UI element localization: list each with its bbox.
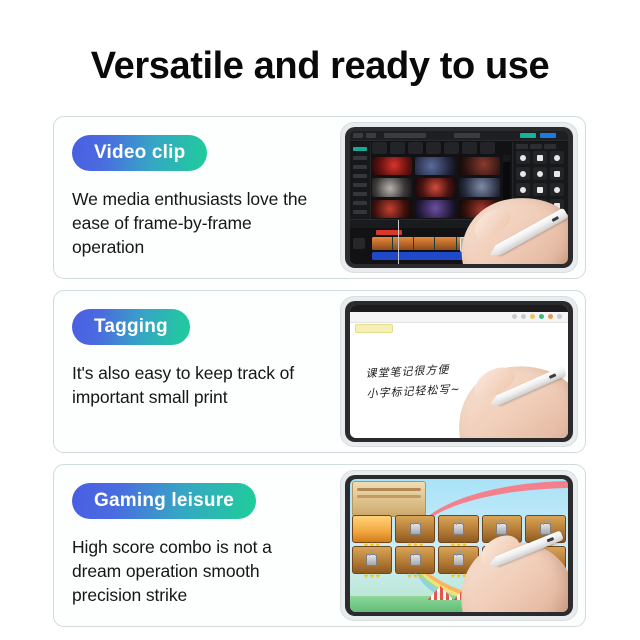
card-image-gaming: ★★★ ★★★ ★★★ [339,465,585,626]
lock-icon [410,554,421,566]
effect-icon[interactable] [550,183,564,196]
level-tile-unlocked[interactable]: ★★★ [352,515,392,543]
tablet-bezel-game: ★★★ ★★★ ★★★ [345,475,573,616]
sidebar-item[interactable] [353,147,367,151]
editor-toolbar [372,142,506,154]
sidebar-item[interactable] [353,210,367,214]
lock-icon [410,523,421,535]
editor-tool-button[interactable] [462,142,477,154]
level-stars: ★★★ [396,573,434,580]
effect-icon[interactable] [550,151,564,164]
effect-icon[interactable] [533,167,547,180]
effect-icon[interactable] [516,183,530,196]
editor-tool-button[interactable] [444,142,459,154]
stylus-button-icon [546,537,554,542]
pen-tool-icon[interactable] [521,314,526,319]
effects-tab[interactable] [530,144,542,149]
level-stars: ★★★ [353,573,391,580]
level-tile-locked[interactable]: ★★★ [395,546,435,574]
lock-icon [366,554,377,566]
editor-tool-button[interactable] [390,142,405,154]
editor-share-chip [540,133,556,138]
orange-pen-icon[interactable] [548,314,553,319]
sidebar-item[interactable] [353,174,367,178]
status-bar [350,305,568,312]
tablet-screen-game: ★★★ ★★★ ★★★ [350,479,568,612]
stylus-button-icon [548,373,556,379]
media-thumbnail[interactable] [459,178,500,196]
card-tag-gaming-leisure[interactable]: Gaming leisure [72,483,256,519]
effect-icon[interactable] [516,167,530,180]
tablet-bezel-notes: 课堂笔记很方便 小字标记轻松写~ [345,301,573,442]
pen-tool-icon[interactable] [512,314,517,319]
lock-icon [453,554,464,566]
tent-decoration [428,586,454,600]
effects-tab[interactable] [516,144,528,149]
card-description-tagging: It's also easy to keep track of importan… [72,361,325,409]
sidebar-item[interactable] [353,192,367,196]
tablet-device-video [341,123,577,272]
page-title: Versatile and ready to use [0,47,640,87]
editor-tool-button[interactable] [408,142,423,154]
editor-media-sidebar[interactable] [350,142,371,220]
tablet-screen-video [350,131,568,264]
highlighter-icon[interactable] [530,314,535,319]
feature-card-tagging[interactable]: Tagging It's also easy to keep track of … [53,290,586,453]
effect-icon[interactable] [516,151,530,164]
card-tag-tagging[interactable]: Tagging [72,309,190,345]
feature-card-gaming-leisure[interactable]: Gaming leisure High score combo is not a… [53,464,586,627]
clip-frame [414,237,435,250]
editor-tab-chip [454,133,480,138]
card-description-gaming: High score combo is not a dream operatio… [72,535,325,607]
game-title-banner [352,481,426,517]
tablet-device-notes: 课堂笔记很方便 小字标记轻松写~ [341,297,577,446]
note-tag-chip[interactable] [355,324,393,333]
level-tile-locked[interactable]: ★★★ [438,515,478,543]
media-thumbnail[interactable] [372,200,413,218]
media-thumbnail[interactable] [415,157,456,175]
media-thumbnail[interactable] [415,178,456,196]
stylus-button-icon [551,216,559,222]
clip-frame [435,237,456,250]
media-thumbnail[interactable] [372,157,413,175]
card-content-gaming: Gaming leisure High score combo is not a… [54,465,339,626]
editor-project-name-chip [384,133,426,138]
tablet-bezel-video [345,127,573,268]
media-thumbnail[interactable] [459,157,500,175]
card-image-tagging: 课堂笔记很方便 小字标记轻松写~ [339,291,585,452]
preview-header [503,155,510,162]
card-image-video-clip [339,117,585,278]
editor-tool-button[interactable] [480,142,495,154]
card-content-tagging: Tagging It's also easy to keep track of … [54,291,339,452]
green-pen-icon[interactable] [539,314,544,319]
sidebar-item[interactable] [353,201,367,205]
lock-icon [453,523,464,535]
clip-frame [393,237,414,250]
clip-frame [372,237,393,250]
level-tile-locked[interactable]: ★★★ [395,515,435,543]
sidebar-item[interactable] [353,165,367,169]
editor-export-chip [520,133,536,138]
card-tag-video-clip[interactable]: Video clip [72,135,207,171]
feature-card-video-clip[interactable]: Video clip We media enthusiasts love the… [53,116,586,279]
timeline-track-header [353,238,365,249]
effect-icon[interactable] [533,151,547,164]
effect-icon[interactable] [533,183,547,196]
editor-menu-chip-2 [366,133,376,138]
tablet-screen-notes: 课堂笔记很方便 小字标记轻松写~ [350,305,568,438]
card-content-video-clip: Video clip We media enthusiasts love the… [54,117,339,278]
editor-menu-chip [353,133,363,138]
card-description-video-clip: We media enthusiasts love the ease of fr… [72,187,325,259]
editor-tool-button[interactable] [426,142,441,154]
lock-icon [496,523,507,535]
lock-icon [540,523,551,535]
feature-card-list: Video clip We media enthusiasts love the… [53,116,586,638]
level-tile-locked[interactable]: ★★★ [352,546,392,574]
eraser-icon[interactable] [557,314,562,319]
effects-tab[interactable] [544,144,556,149]
promo-page: Versatile and ready to use Video clip We… [0,0,640,640]
pen-tool-palette[interactable] [512,314,562,319]
effect-icon[interactable] [550,167,564,180]
media-thumbnail[interactable] [415,200,456,218]
media-thumbnail[interactable] [372,178,413,196]
timeline-playhead[interactable] [398,220,399,264]
sidebar-item[interactable] [353,183,367,187]
editor-top-bar [350,131,568,141]
editor-media-grid[interactable] [372,157,500,218]
sidebar-item[interactable] [353,156,367,160]
tablet-device-game: ★★★ ★★★ ★★★ [341,471,577,620]
editor-tool-button[interactable] [372,142,387,154]
effects-panel-tabs[interactable] [516,144,556,149]
